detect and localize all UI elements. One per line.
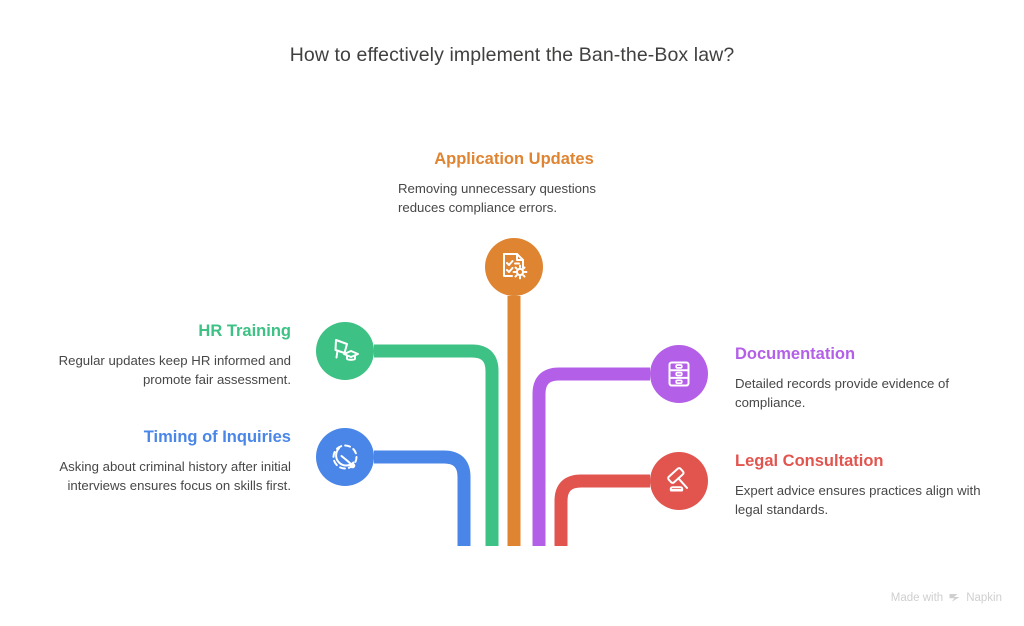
body-documentation: Detailed records provide evidence of com…	[735, 374, 985, 413]
block-timing-of-inquiries: Timing of Inquiries Asking about crimina…	[20, 428, 291, 495]
gavel-icon	[662, 464, 696, 498]
megaphone-graduation-cap-icon	[328, 334, 362, 368]
connector-wires	[0, 0, 1024, 626]
block-application-updates: Application Updates Removing unnecessary…	[334, 150, 694, 217]
wire-hr-training	[374, 351, 492, 546]
wire-timing-of-inquiries	[374, 457, 464, 546]
napkin-logo-icon	[948, 591, 961, 604]
heading-timing-of-inquiries: Timing of Inquiries	[20, 428, 291, 448]
body-application-updates: Removing unnecessary questions reduces c…	[398, 179, 630, 218]
infographic-canvas: How to effectively implement the Ban-the…	[0, 0, 1024, 626]
block-hr-training: HR Training Regular updates keep HR info…	[20, 322, 291, 389]
filing-cabinet-icon	[662, 357, 696, 391]
heading-hr-training: HR Training	[20, 322, 291, 342]
clock-dial-icon	[328, 440, 362, 474]
node-icon-hr-training[interactable]	[316, 322, 374, 380]
wire-legal-consultation	[561, 481, 650, 546]
body-hr-training: Regular updates keep HR informed and pro…	[20, 351, 291, 390]
block-legal-consultation: Legal Consultation Expert advice ensures…	[735, 452, 985, 519]
node-icon-legal-consultation[interactable]	[650, 452, 708, 510]
block-documentation: Documentation Detailed records provide e…	[735, 345, 985, 412]
checklist-gear-icon	[497, 250, 531, 284]
body-legal-consultation: Expert advice ensures practices align wi…	[735, 481, 985, 520]
heading-application-updates: Application Updates	[334, 150, 694, 170]
body-timing-of-inquiries: Asking about criminal history after init…	[20, 457, 291, 496]
node-icon-application-updates[interactable]	[485, 238, 543, 296]
heading-legal-consultation: Legal Consultation	[735, 452, 985, 472]
node-icon-timing-of-inquiries[interactable]	[316, 428, 374, 486]
watermark-brand: Napkin	[966, 592, 1002, 604]
heading-documentation: Documentation	[735, 345, 985, 365]
watermark-prefix: Made with	[891, 592, 943, 604]
watermark: Made with Napkin	[891, 591, 1002, 604]
node-icon-documentation[interactable]	[650, 345, 708, 403]
